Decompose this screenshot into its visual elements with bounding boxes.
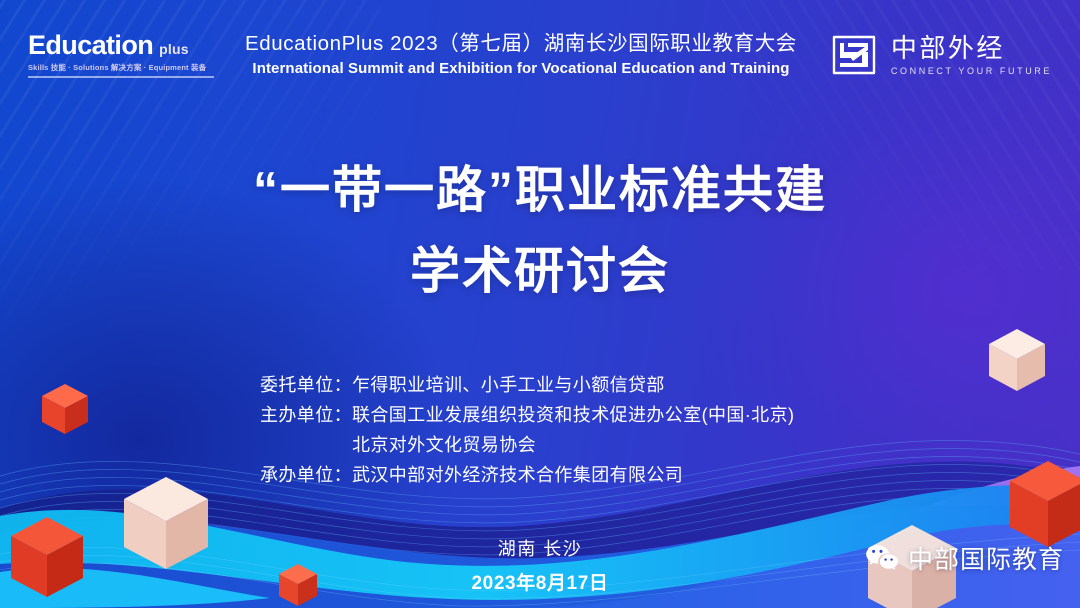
education-plus-suffix: plus [159, 42, 189, 56]
conference-banner: EducationPlus 2023（第七届）湖南长沙国际职业教育大会 Inte… [214, 31, 828, 78]
wechat-watermark: 中部国际教育 [865, 540, 1064, 576]
zhongbu-waijing-logo: 中部外经 CONNECT YOUR FUTURE [828, 31, 1052, 79]
main-title: “一带一路”职业标准共建 学术研讨会 [0, 150, 1080, 312]
wechat-icon [865, 543, 899, 573]
conference-title-en: International Summit and Exhibition for … [224, 59, 818, 79]
conference-title-cn: EducationPlus 2023（第七届）湖南长沙国际职业教育大会 [224, 31, 818, 57]
info-line-organizer-unit: 承办单位：武汉中部对外经济技术合作集团有限公司 [260, 460, 820, 490]
poster-canvas: Education plus Skills 技能 · Solutions 解决方… [0, 0, 1080, 608]
poster-header: Education plus Skills 技能 · Solutions 解决方… [0, 0, 1080, 110]
education-plus-wordmark: Education [28, 32, 153, 59]
info-line-host-unit: 主办单位：联合国工业发展组织投资和技术促进办公室(中国·北京) [260, 400, 820, 430]
main-title-line-2: 学术研讨会 [0, 231, 1080, 312]
organizer-info: 委托单位：乍得职业培训、小手工业与小额信贷部 主办单位：联合国工业发展组织投资和… [0, 370, 1080, 490]
watermark-text: 中部国际教育 [908, 540, 1064, 576]
zhongbu-waijing-monogram-icon [828, 31, 880, 79]
zhongbu-waijing-name-cn: 中部外经 [891, 35, 1052, 61]
education-plus-underline [28, 76, 214, 78]
info-line-host-unit-second: 北京对外文化贸易协会 [260, 430, 820, 460]
education-plus-logo: Education plus Skills 技能 · Solutions 解决方… [28, 32, 214, 78]
zhongbu-waijing-slogan-en: CONNECT YOUR FUTURE [891, 67, 1052, 76]
main-title-line-1: “一带一路”职业标准共建 [0, 150, 1080, 231]
education-plus-tagline: Skills 技能 · Solutions 解决方案 · Equipment 装… [28, 64, 206, 72]
info-line-entrusting-unit: 委托单位：乍得职业培训、小手工业与小额信贷部 [260, 370, 820, 400]
